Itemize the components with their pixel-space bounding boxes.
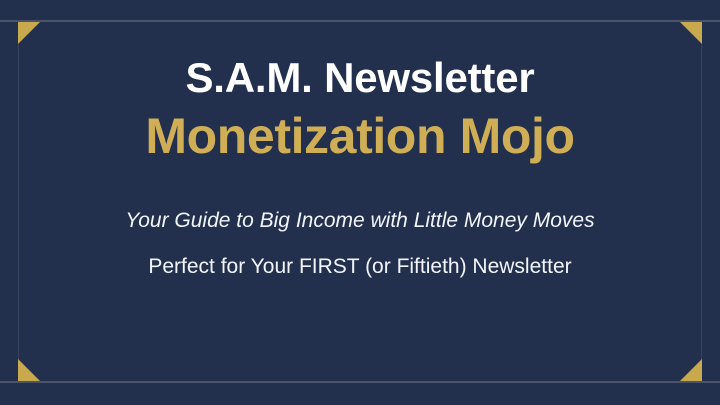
title-slide: S.A.M. Newsletter Monetization Mojo Your… xyxy=(0,0,720,405)
slide-content: S.A.M. Newsletter Monetization Mojo Your… xyxy=(0,0,720,405)
slide-title-main: S.A.M. Newsletter xyxy=(185,56,534,100)
slide-title-accent: Monetization Mojo xyxy=(145,110,574,163)
slide-tagline: Your Guide to Big Income with Little Mon… xyxy=(125,209,594,233)
slide-subline: Perfect for Your FIRST (or Fiftieth) New… xyxy=(148,255,571,279)
